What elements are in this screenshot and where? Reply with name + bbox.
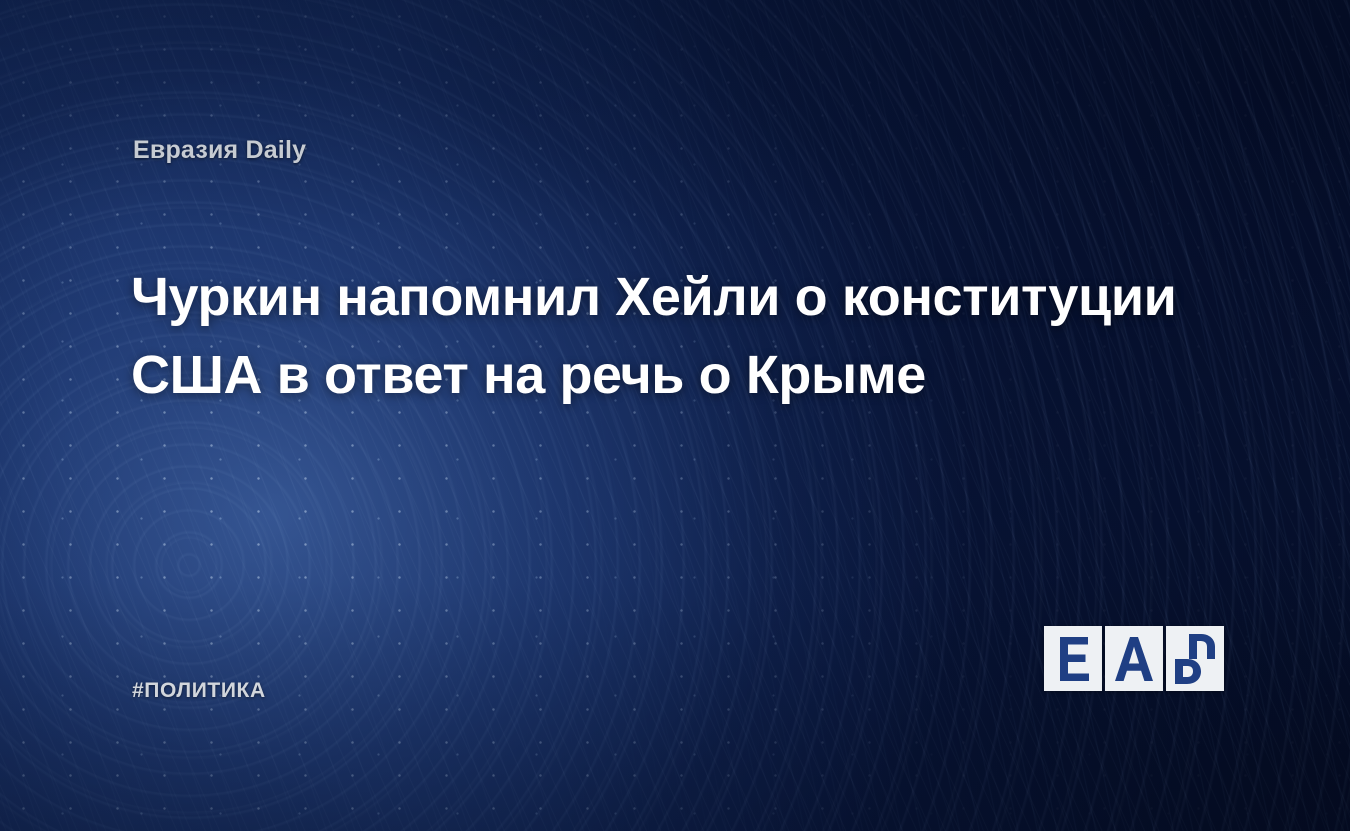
letter-a-icon	[1115, 637, 1153, 681]
logo-tile-e	[1044, 626, 1102, 691]
letter-e-icon	[1056, 637, 1090, 681]
logo-tile-d	[1166, 626, 1224, 691]
split-d-icon	[1175, 634, 1215, 684]
eadaily-logo[interactable]	[1044, 626, 1224, 691]
card-content: Евразия Daily Чуркин напомнил Хейли о ко…	[0, 0, 1350, 831]
news-share-card: Евразия Daily Чуркин напомнил Хейли о ко…	[0, 0, 1350, 831]
brand-name: Евразия Daily	[133, 136, 306, 165]
logo-tile-a	[1105, 626, 1163, 691]
headline-title: Чуркин напомнил Хейли о конституции США …	[131, 258, 1201, 414]
category-hashtag[interactable]: #ПОЛИТИКА	[132, 679, 266, 703]
